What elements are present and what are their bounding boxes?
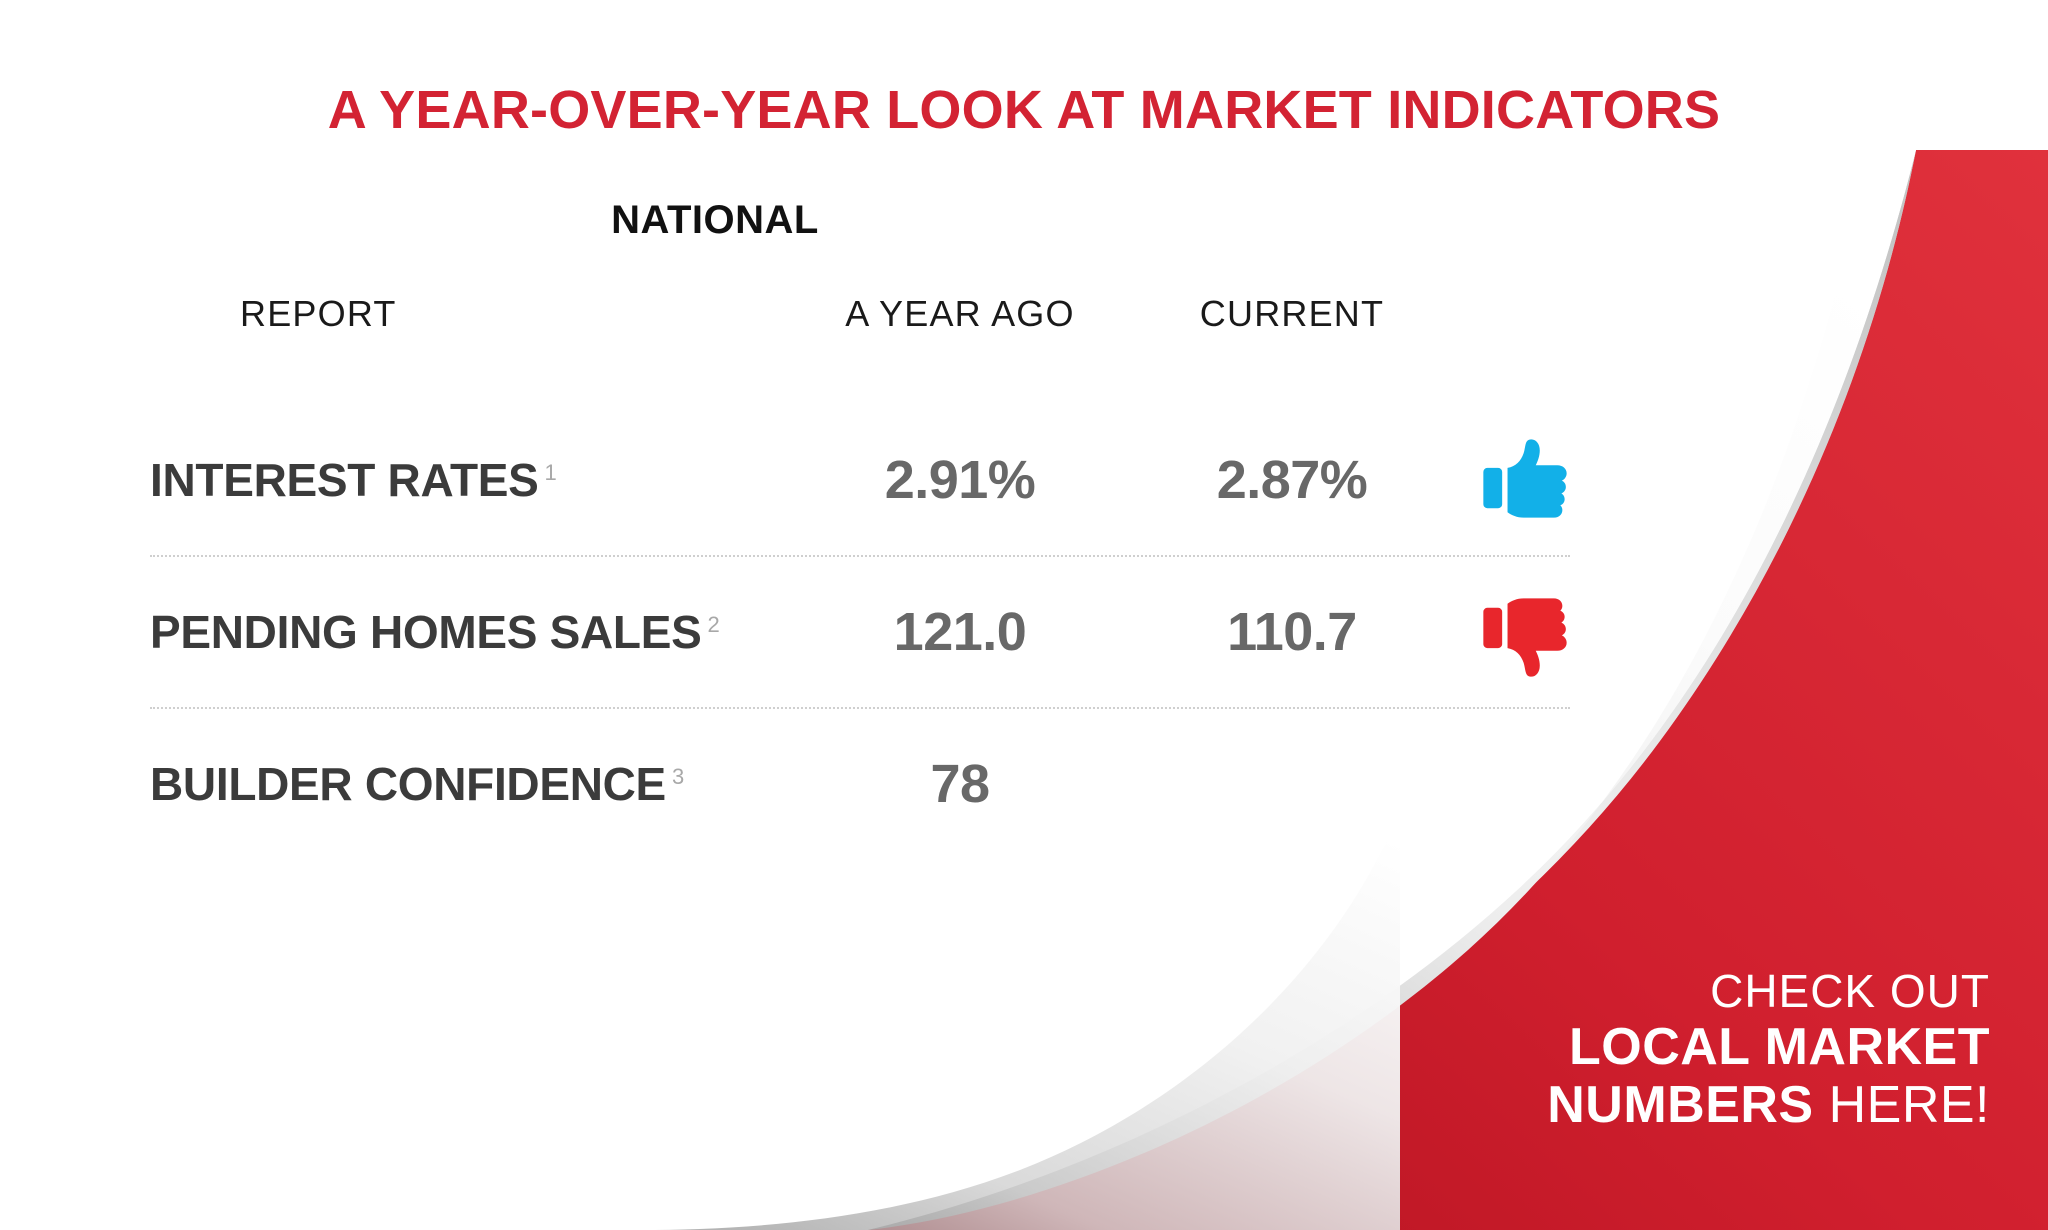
slide-canvas: A YEAR-OVER-YEAR LOOK AT MARKET INDICATO… bbox=[0, 0, 2048, 1230]
cta-line-2: LOCAL MARKET bbox=[1547, 1018, 1990, 1076]
row-label: INTEREST RATES1 bbox=[150, 454, 556, 506]
page-title: A YEAR-OVER-YEAR LOOK AT MARKET INDICATO… bbox=[0, 82, 2048, 139]
row-trend-cell bbox=[1442, 590, 1702, 674]
column-header-a-year-ago: A YEAR AGO bbox=[845, 293, 1074, 334]
column-header-current: CURRENT bbox=[1200, 293, 1384, 334]
row-label: BUILDER CONFIDENCE3 bbox=[150, 758, 684, 810]
thumbs-down-icon bbox=[1482, 594, 1568, 678]
column-header-report: REPORT bbox=[240, 293, 397, 334]
row-footnote-marker: 3 bbox=[672, 764, 684, 789]
page-curl-shadow bbox=[640, 810, 1400, 1230]
cta-line-1: CHECK OUT bbox=[1547, 966, 1990, 1018]
row-label-text: INTEREST RATES bbox=[150, 454, 539, 506]
cta-line-3: NUMBERS HERE! bbox=[1547, 1076, 1990, 1134]
row-label: PENDING HOMES SALES2 bbox=[150, 606, 719, 658]
table-row: INTEREST RATES1 2.91% 2.87% bbox=[150, 405, 1810, 555]
row-label-text: BUILDER CONFIDENCE bbox=[150, 758, 666, 810]
cta-line-3-light: HERE! bbox=[1829, 1076, 1990, 1134]
row-footnote-marker: 2 bbox=[708, 612, 720, 637]
row-prior-value: 2.91% bbox=[885, 450, 1036, 510]
table-header-row: REPORT A YEAR AGO CURRENT bbox=[150, 275, 1810, 353]
thumbs-up-icon bbox=[1482, 438, 1568, 522]
row-footnote-marker: 1 bbox=[545, 460, 557, 485]
cta-line-3-bold: NUMBERS bbox=[1547, 1076, 1813, 1134]
table-row: PENDING HOMES SALES2 121.0 110.7 bbox=[150, 557, 1810, 707]
row-prior-value: 121.0 bbox=[894, 602, 1027, 662]
row-current-value: 110.7 bbox=[1227, 602, 1357, 662]
row-prior-value: 78 bbox=[930, 754, 989, 814]
row-label-text: PENDING HOMES SALES bbox=[150, 606, 702, 658]
indicators-table: NATIONAL REPORT A YEAR AGO CURRENT INTER… bbox=[150, 198, 1810, 859]
header-gap bbox=[150, 353, 1810, 405]
row-current-value: 2.87% bbox=[1217, 450, 1368, 510]
local-market-cta[interactable]: CHECK OUT LOCAL MARKET NUMBERS HERE! bbox=[1547, 966, 1990, 1134]
table-scope-label: NATIONAL bbox=[150, 198, 1280, 243]
row-trend-cell bbox=[1442, 438, 1702, 522]
table-row: BUILDER CONFIDENCE3 78 bbox=[150, 709, 1810, 859]
